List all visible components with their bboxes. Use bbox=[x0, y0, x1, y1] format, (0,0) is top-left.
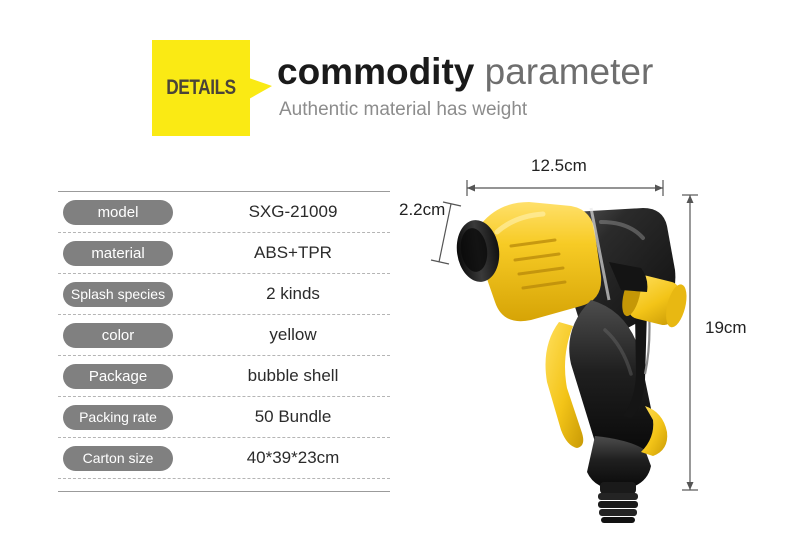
connector-neck bbox=[600, 482, 636, 494]
table-row: Carton size 40*39*23cm bbox=[58, 438, 390, 478]
product-illustration bbox=[395, 150, 790, 540]
dimension-label-nozzle-diameter: 2.2cm bbox=[399, 200, 445, 220]
page-title-strong: commodity bbox=[277, 51, 474, 92]
product-image-area: 12.5cm 2.2cm 19cm bbox=[395, 150, 790, 540]
dimension-label-height: 19cm bbox=[705, 318, 747, 338]
table-row: color yellow bbox=[58, 315, 390, 355]
spec-value-carton-size: 40*39*23cm bbox=[198, 448, 388, 468]
table-row: model SXG-21009 bbox=[58, 192, 390, 232]
spec-value-model: SXG-21009 bbox=[198, 202, 388, 222]
specification-table: model SXG-21009 material ABS+TPR Splash … bbox=[58, 191, 390, 492]
spec-value-splash-species: 2 kinds bbox=[198, 284, 388, 304]
page-title-light: parameter bbox=[485, 51, 654, 92]
table-row: Packing rate 50 Bundle bbox=[58, 397, 390, 437]
page-header: DETAILS commodity parameter Authentic ma… bbox=[0, 0, 790, 150]
spec-label-material: material bbox=[63, 241, 173, 266]
spec-label-packing-rate: Packing rate bbox=[63, 405, 173, 430]
spec-value-color: yellow bbox=[198, 325, 388, 345]
table-bottom-rule bbox=[58, 491, 390, 492]
details-badge: DETAILS bbox=[152, 40, 250, 136]
spec-label-color: color bbox=[63, 323, 173, 348]
spec-value-packing-rate: 50 Bundle bbox=[198, 407, 388, 427]
details-badge-pointer-icon bbox=[249, 78, 272, 99]
spec-value-material: ABS+TPR bbox=[198, 243, 388, 263]
page-title: commodity parameter bbox=[277, 50, 653, 94]
spec-value-package: bubble shell bbox=[198, 366, 388, 386]
spec-label-package: Package bbox=[63, 364, 173, 389]
table-row: Package bubble shell bbox=[58, 356, 390, 396]
hose-connector-ridges bbox=[598, 493, 638, 523]
table-row: Splash species 2 kinds bbox=[58, 274, 390, 314]
details-badge-label: DETAILS bbox=[161, 40, 241, 136]
spec-label-model: model bbox=[63, 200, 173, 225]
page-subtitle: Authentic material has weight bbox=[279, 99, 527, 121]
spec-label-carton-size: Carton size bbox=[63, 446, 173, 471]
table-row: material ABS+TPR bbox=[58, 233, 390, 273]
dimension-label-length: 12.5cm bbox=[531, 156, 587, 176]
spec-label-splash-species: Splash species bbox=[63, 282, 173, 307]
